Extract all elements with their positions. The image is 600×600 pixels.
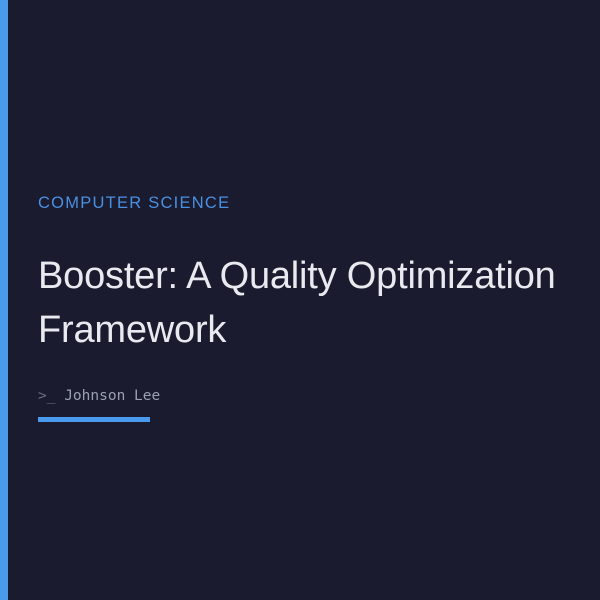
prompt-space (55, 388, 64, 404)
category-label: COMPUTER SCIENCE (38, 193, 556, 213)
card-content: COMPUTER SCIENCE Booster: A Quality Opti… (38, 193, 556, 422)
left-accent-stripe (0, 0, 8, 600)
terminal-prompt-icon: >_ (38, 388, 55, 404)
author-name: Johnson Lee (64, 388, 160, 404)
article-card: COMPUTER SCIENCE Booster: A Quality Opti… (0, 0, 600, 600)
byline: >_ Johnson Lee (38, 387, 556, 405)
page-title: Booster: A Quality Optimization Framewor… (38, 249, 556, 357)
accent-underline-bar (38, 417, 150, 422)
